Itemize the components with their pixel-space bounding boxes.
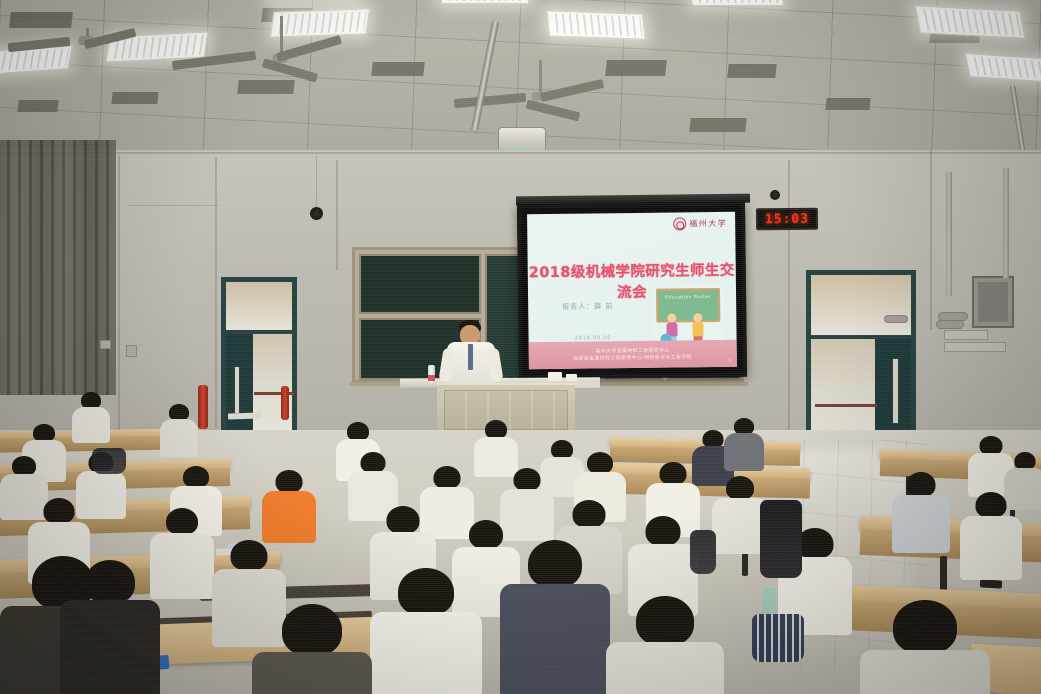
phone-on-desk: [980, 579, 1002, 588]
student: [72, 392, 110, 442]
backpack: [690, 530, 716, 574]
ceiling-vent-tile: [727, 64, 776, 78]
student: [960, 492, 1022, 576]
wall-speaker: [310, 207, 323, 220]
slide-page-number: 1: [729, 358, 732, 363]
presenter-tie: [468, 344, 473, 370]
fluorescent-light-panel: [439, 0, 530, 4]
child-head: [667, 313, 676, 322]
paper-on-desk: [566, 374, 577, 381]
backpack: [760, 500, 802, 578]
student-head: [726, 476, 754, 500]
wall-speaker: [770, 190, 780, 200]
child-head: [693, 313, 702, 322]
student-torso: [606, 642, 724, 694]
student: [252, 604, 372, 694]
ceiling-vent-tile: [9, 12, 73, 28]
paper-on-desk: [548, 372, 562, 381]
ceiling-vent-tile: [111, 92, 158, 104]
wall-seam: [336, 160, 338, 270]
slide-footer-line-1: 福州大学金属材料工程研究中心: [596, 348, 670, 355]
student-head: [907, 472, 936, 497]
student: [860, 600, 990, 694]
student-torso: [252, 652, 372, 694]
ceiling-vent-tile: [17, 100, 58, 112]
fan-blade: [540, 79, 604, 102]
fan-blade: [84, 28, 137, 49]
ceiling-vent-tile: [605, 60, 667, 76]
student-torso: [370, 612, 482, 694]
door-transom-glass: [811, 275, 911, 339]
student: [724, 418, 764, 470]
lecture-hall-photo: 福州大学 2018级机械学院研究生师生交流会 报告人：薛 前 2018.09.0…: [0, 0, 1041, 694]
student-head: [646, 516, 681, 546]
door-transom-glass: [226, 282, 292, 334]
student: [500, 540, 610, 694]
wall-seam: [118, 155, 120, 435]
ceiling-fan: [200, 16, 360, 76]
student-head: [893, 600, 957, 654]
student-torso: [724, 433, 764, 471]
slide-footer-line-2: 福建省金属材料工程研究中心/材料科学与工程学院: [573, 354, 692, 361]
student: [262, 470, 316, 540]
student-head: [44, 498, 75, 524]
student-head: [387, 506, 420, 534]
fan-blade: [454, 93, 527, 108]
student-torso: [160, 419, 198, 457]
student-head: [361, 452, 386, 473]
slide-footer-band: 福州大学金属材料工程研究中心 福建省金属材料工程研究中心/材料科学与工程学院 1: [529, 340, 737, 370]
wall-seam: [0, 152, 1041, 154]
student-head: [12, 456, 36, 476]
fluorescent-light-panel: [915, 5, 1026, 38]
fluorescent-light-panel: [688, 0, 784, 6]
student-head: [528, 540, 582, 588]
student-head: [434, 466, 461, 489]
student: [370, 568, 482, 694]
student-head: [85, 560, 135, 604]
conduit-pipe: [946, 172, 952, 296]
conduit-pipe: [1003, 168, 1009, 278]
clock-time: 15:03: [765, 211, 809, 226]
student-torso: [860, 650, 990, 694]
fan-pole: [280, 16, 283, 56]
child-body: [692, 322, 703, 336]
wall-seam: [788, 160, 790, 460]
university-seal-icon: [673, 217, 686, 230]
student-head: [183, 466, 209, 488]
student-torso: [72, 407, 110, 443]
ceiling-vent-tile: [689, 118, 746, 132]
umbrella: [762, 588, 776, 614]
student-head: [166, 508, 198, 535]
wall-socket[interactable]: [100, 340, 111, 349]
plaid-bag: [752, 614, 804, 662]
artwork-child-right: [692, 313, 703, 342]
student-head: [587, 452, 613, 474]
student-torso: [262, 491, 316, 543]
university-name: 福州大学: [689, 218, 727, 229]
corridor-railing: [815, 404, 877, 407]
student-head: [282, 604, 342, 656]
wall-vent: [884, 315, 908, 323]
window-curtain: [0, 140, 116, 395]
fire-extinguisher: [281, 386, 289, 420]
electrical-distribution-box[interactable]: [972, 276, 1014, 328]
slide-presenter-line: 报告人：薛 前: [562, 301, 613, 312]
ceiling-vent-tile: [825, 98, 870, 110]
ceiling-fan: [26, 28, 146, 68]
ceiling-vent-tile: [371, 62, 424, 76]
notebook-on-desk: [228, 412, 262, 419]
fan-pole: [539, 60, 542, 94]
wall-vent: [936, 320, 964, 329]
student: [60, 560, 160, 694]
student-head: [514, 468, 541, 491]
wall-seam: [215, 158, 217, 428]
student-torso: [960, 516, 1022, 580]
light-switch-plate[interactable]: [944, 330, 988, 340]
student-head: [573, 500, 606, 528]
student-head: [660, 462, 687, 485]
digital-wall-clock: 15:03: [756, 208, 818, 231]
speaker-cable: [316, 156, 317, 208]
student-head: [231, 540, 268, 571]
fire-extinguisher: [198, 385, 208, 429]
student-head: [276, 470, 303, 493]
fluorescent-light-panel: [546, 10, 645, 39]
student-torso: [892, 495, 950, 553]
light-switch-plate[interactable]: [944, 342, 1006, 352]
wall-seam: [930, 150, 932, 330]
student: [892, 472, 950, 548]
student: [160, 404, 198, 456]
university-logo: 福州大学: [673, 217, 727, 231]
student-head: [398, 568, 454, 616]
artwork-caption: Education Poster: [658, 295, 718, 301]
presentation-slide: 福州大学 2018级机械学院研究生师生交流会 报告人：薛 前 2018.09.0…: [527, 212, 737, 370]
water-bottle: [428, 365, 435, 383]
student-head: [469, 520, 503, 549]
door-vision-slit: [892, 358, 899, 424]
door-vision-slit: [234, 366, 240, 414]
fan-blade: [276, 35, 342, 62]
projection-screen: 福州大学 2018级机械学院研究生师生交流会 报告人：薛 前 2018.09.0…: [517, 202, 747, 380]
student-torso: [500, 584, 610, 694]
chalkboard-panel: [359, 254, 481, 314]
ceiling-vent-tile: [237, 80, 294, 94]
student-head: [636, 596, 694, 646]
slide-artwork: Education Poster: [652, 284, 725, 347]
student-head: [797, 528, 834, 559]
student-torso: [60, 600, 160, 694]
student: [606, 596, 724, 694]
wall-seam: [128, 205, 218, 206]
student-head: [976, 492, 1007, 518]
backpack: [92, 448, 126, 474]
wall-socket[interactable]: [126, 345, 137, 357]
